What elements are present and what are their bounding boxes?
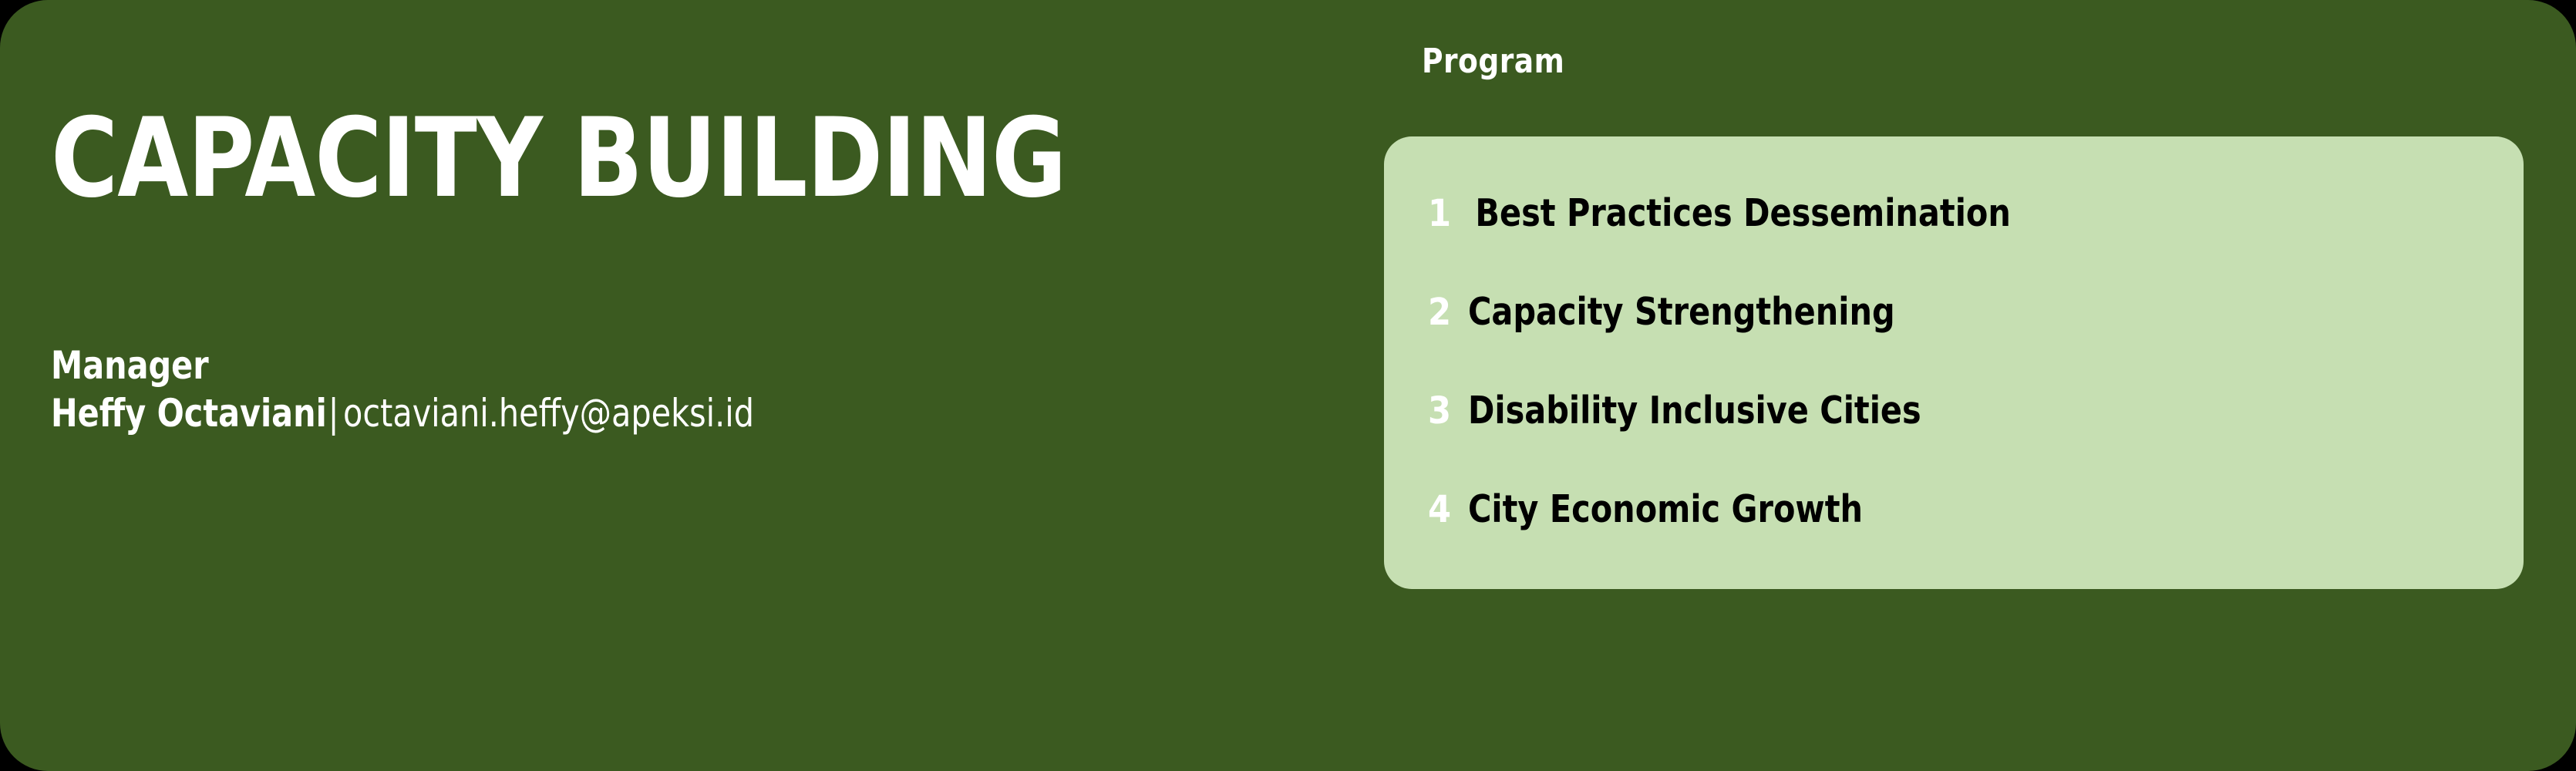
- left-column: CAPACITY BUILDING Manager Heffy Octavian…: [51, 0, 1362, 771]
- program-item-label: Disability Inclusive Cities: [1468, 362, 2460, 460]
- list-item[interactable]: 1 Best Practices Dessemination: [1384, 164, 2524, 263]
- manager-role-label: Manager: [51, 342, 754, 389]
- program-heading: Program: [1422, 45, 1564, 79]
- program-item-index: 4: [1428, 460, 1468, 559]
- contact-block: Manager Heffy Octaviani|octaviani.heffy@…: [51, 342, 815, 437]
- program-item-label: Best Practices Dessemination: [1468, 164, 2460, 263]
- program-list: 1 Best Practices Dessemination 2 Capacit…: [1384, 164, 2524, 559]
- list-item[interactable]: 4 City Economic Growth: [1384, 460, 2524, 559]
- page-title: CAPACITY BUILDING: [51, 104, 1066, 214]
- program-item-index: 3: [1428, 362, 1468, 460]
- list-item[interactable]: 2 Capacity Strengthening: [1384, 263, 2524, 362]
- contact-separator: |: [327, 391, 343, 436]
- manager-email[interactable]: octaviani.heffy@apeksi.id: [343, 391, 754, 436]
- program-item-label: City Economic Growth: [1468, 460, 2460, 559]
- manager-name: Heffy Octaviani: [51, 391, 327, 436]
- program-item-index: 2: [1428, 263, 1468, 362]
- program-item-label: Capacity Strengthening: [1468, 263, 2460, 362]
- program-panel: 1 Best Practices Dessemination 2 Capacit…: [1384, 136, 2524, 589]
- list-item[interactable]: 3 Disability Inclusive Cities: [1384, 362, 2524, 460]
- capacity-building-card: CAPACITY BUILDING Manager Heffy Octavian…: [0, 0, 2576, 771]
- program-item-index: 1: [1428, 164, 1468, 263]
- manager-contact-line: Heffy Octaviani|octaviani.heffy@apeksi.i…: [51, 389, 754, 437]
- right-column: Program 1 Best Practices Dessemination 2…: [1384, 0, 2525, 771]
